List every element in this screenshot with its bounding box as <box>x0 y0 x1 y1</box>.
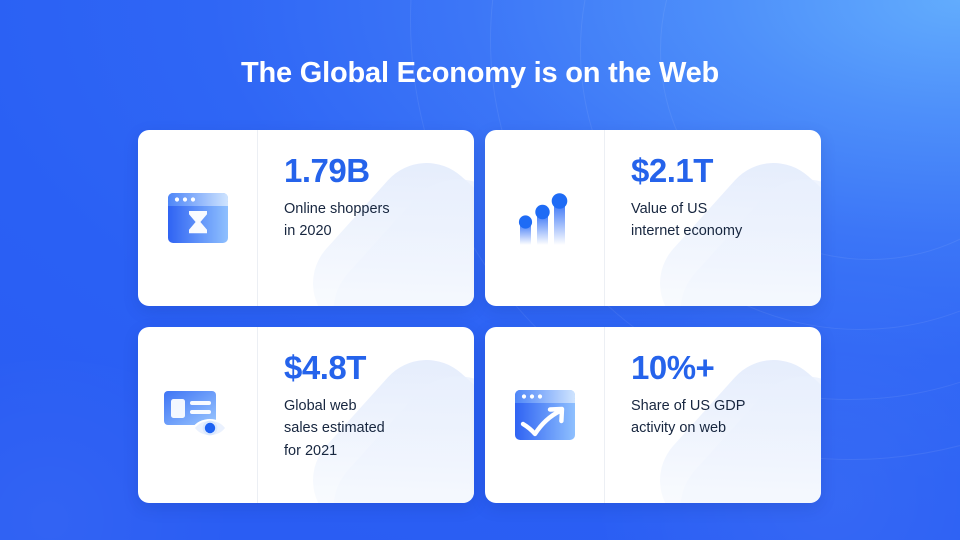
browser-hourglass-icon <box>166 190 230 246</box>
stat-card-us-gdp-share: 10%+ Share of US GDP activity on web <box>485 327 821 503</box>
stat-value: $4.8T <box>284 351 456 384</box>
stat-description: Global web sales estimated for 2021 <box>284 395 456 462</box>
stat-card-global-web-sales: $4.8T Global web sales estimated for 202… <box>138 327 474 503</box>
stat-card-online-shoppers: 1.79B Online shoppers in 2020 <box>138 130 474 306</box>
stat-card-icon-area <box>485 130 605 306</box>
stat-card-text-area: $2.1T Value of US internet economy <box>605 130 821 306</box>
stat-value: 10%+ <box>631 351 803 384</box>
stat-card-icon-area <box>485 327 605 503</box>
stat-card-icon-area <box>138 327 258 503</box>
stat-value: $2.1T <box>631 154 803 187</box>
stat-card-text-area: 1.79B Online shoppers in 2020 <box>258 130 474 306</box>
browser-growth-arrow-icon <box>513 387 577 443</box>
stat-description: Share of US GDP activity on web <box>631 395 803 440</box>
stat-card-icon-area <box>138 130 258 306</box>
card-eye-icon <box>162 385 234 445</box>
bar-chart-icon <box>514 189 576 247</box>
stat-description: Online shoppers in 2020 <box>284 198 456 243</box>
page-title: The Global Economy is on the Web <box>0 57 960 90</box>
stat-card-internet-economy-value: $2.1T Value of US internet economy <box>485 130 821 306</box>
stat-value: 1.79B <box>284 154 456 187</box>
stat-card-text-area: $4.8T Global web sales estimated for 202… <box>258 327 474 503</box>
stats-grid: 1.79B Online shoppers in 2020 <box>138 130 821 503</box>
stat-description: Value of US internet economy <box>631 198 803 243</box>
stat-card-text-area: 10%+ Share of US GDP activity on web <box>605 327 821 503</box>
